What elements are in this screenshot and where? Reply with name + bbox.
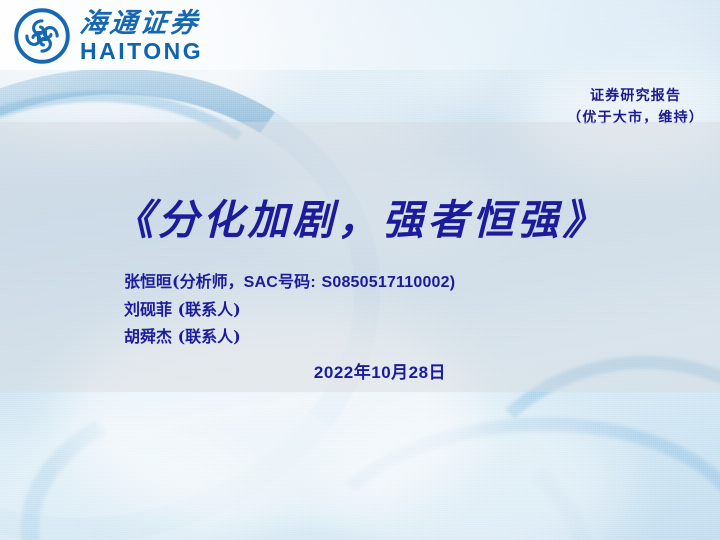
brand-name-cn: 海通证券 xyxy=(78,10,204,37)
content-panel xyxy=(0,122,720,392)
author-list: 张恒晅(分析师，SAC号码: S0850517110002) 刘砚菲 (联系人)… xyxy=(124,268,455,350)
brand-wordmark: 海通证券 HAITONG xyxy=(80,10,203,63)
author-role: (联系人) xyxy=(178,327,241,346)
haitong-circular-emblem-icon xyxy=(14,8,70,64)
author-row: 胡舜杰 (联系人) xyxy=(124,323,455,350)
author-role: (联系人) xyxy=(178,300,241,319)
author-name: 刘砚菲 xyxy=(124,300,172,319)
presentation-slide: 海通证券 HAITONG 证券研究报告 （优于大市，维持） 《分化加剧，强者恒强… xyxy=(0,0,720,540)
report-type-label: 证券研究报告 xyxy=(567,86,704,108)
brand-name-en: HAITONG xyxy=(80,40,203,63)
page-title: 《分化加剧，强者恒强》 xyxy=(0,186,720,246)
author-name: 张恒晅 xyxy=(124,272,172,291)
brand-logo[interactable]: 海通证券 HAITONG xyxy=(14,8,203,64)
author-row: 张恒晅(分析师，SAC号码: S0850517110002) xyxy=(124,268,455,296)
author-sac-id: S0850517110002) xyxy=(321,274,455,291)
author-sac-label: SAC号码: xyxy=(244,274,316,291)
publication-date: 2022年10月28日 xyxy=(0,358,720,383)
author-row: 刘砚菲 (联系人) xyxy=(124,296,455,323)
author-name: 胡舜杰 xyxy=(124,327,172,346)
author-role: (分析师， xyxy=(172,272,244,291)
logo-band: 海通证券 HAITONG xyxy=(0,0,720,70)
